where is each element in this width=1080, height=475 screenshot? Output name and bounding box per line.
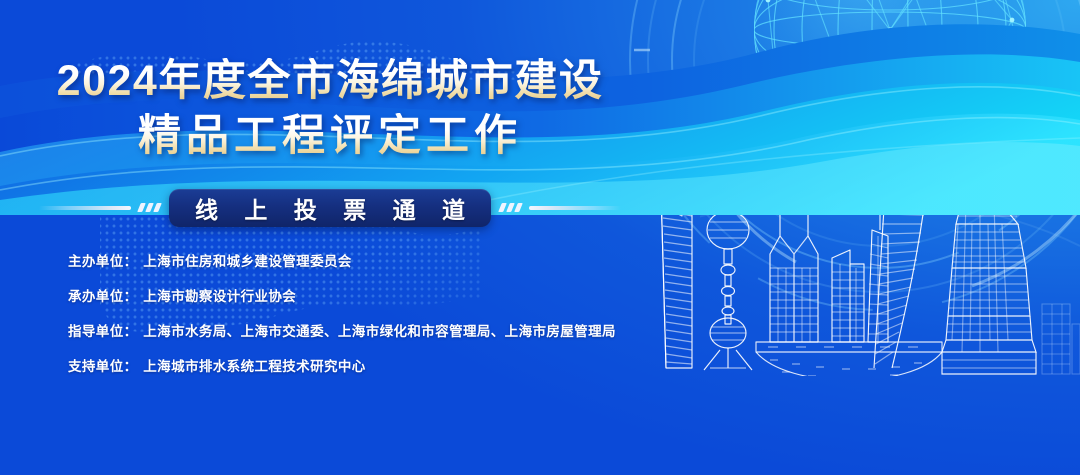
shanghai-tower: [874, 134, 928, 376]
slim-spire-tower: [868, 210, 888, 342]
jin-mao-tower: [942, 130, 1036, 374]
shanghai-skyline-lineart: [636, 118, 1080, 376]
organizer-value-host: 上海市住房和城乡建设管理委员会: [143, 254, 352, 269]
decorative-arcs: [700, 90, 1080, 390]
oriental-pearl-tower: [704, 126, 752, 370]
low-rise-tower: [832, 250, 864, 342]
online-voting-channel-button[interactable]: 线 上 投 票 通 道: [169, 189, 491, 227]
network-globe-wireframe: [740, 0, 1040, 180]
background-buildings: [1042, 304, 1080, 374]
skyline-base-platform: [756, 342, 942, 376]
banner-content: 2024年度全市海绵城市建设 精品工程评定工作 线 上 投 票 通 道 主办单位…: [0, 0, 660, 475]
organizer-row-guidance: 指导单位： 上海市水务局、上海市交通委、上海市绿化和市容管理局、上海市房屋管理局: [68, 320, 648, 340]
title-line-2: 精品工程评定工作: [0, 113, 660, 160]
organizer-label-guidance: 指导单位：: [68, 324, 138, 339]
tech-concentric-rings: [620, 0, 1080, 320]
shanghai-world-financial-center: [660, 154, 692, 368]
organizer-label-support: 支持单位：: [68, 359, 138, 374]
organizer-row-organizer: 承办单位： 上海市勘察设计行业协会: [68, 285, 648, 305]
organizer-value-support: 上海城市排水系统工程技术研究中心: [143, 359, 365, 374]
title-line-1: 2024年度全市海绵城市建设: [0, 58, 660, 105]
organizer-row-host: 主办单位： 上海市住房和城乡建设管理委员会: [68, 250, 648, 270]
organizer-list: 主办单位： 上海市住房和城乡建设管理委员会 承办单位： 上海市勘察设计行业协会 …: [68, 250, 648, 375]
organizer-row-support: 支持单位： 上海城市排水系统工程技术研究中心: [68, 355, 648, 375]
organizer-label-organizer: 承办单位：: [68, 289, 138, 304]
page-title: 2024年度全市海绵城市建设 精品工程评定工作: [0, 58, 660, 169]
online-voting-channel-label: 线 上 投 票 通 道: [185, 191, 475, 225]
sponge-city-voting-banner: 2024年度全市海绵城市建设 精品工程评定工作 线 上 投 票 通 道 主办单位…: [0, 0, 1080, 475]
ribbon-row: 线 上 投 票 通 道: [0, 188, 660, 228]
decorative-line-right: [499, 201, 621, 215]
organizer-value-organizer: 上海市勘察设计行业协会: [143, 289, 296, 304]
twin-spire-tower: [770, 176, 818, 342]
organizer-value-guidance: 上海市水务局、上海市交通委、上海市绿化和市容管理局、上海市房屋管理局: [143, 324, 616, 339]
decorative-line-left: [39, 201, 161, 215]
organizer-label-host: 主办单位：: [68, 254, 138, 269]
